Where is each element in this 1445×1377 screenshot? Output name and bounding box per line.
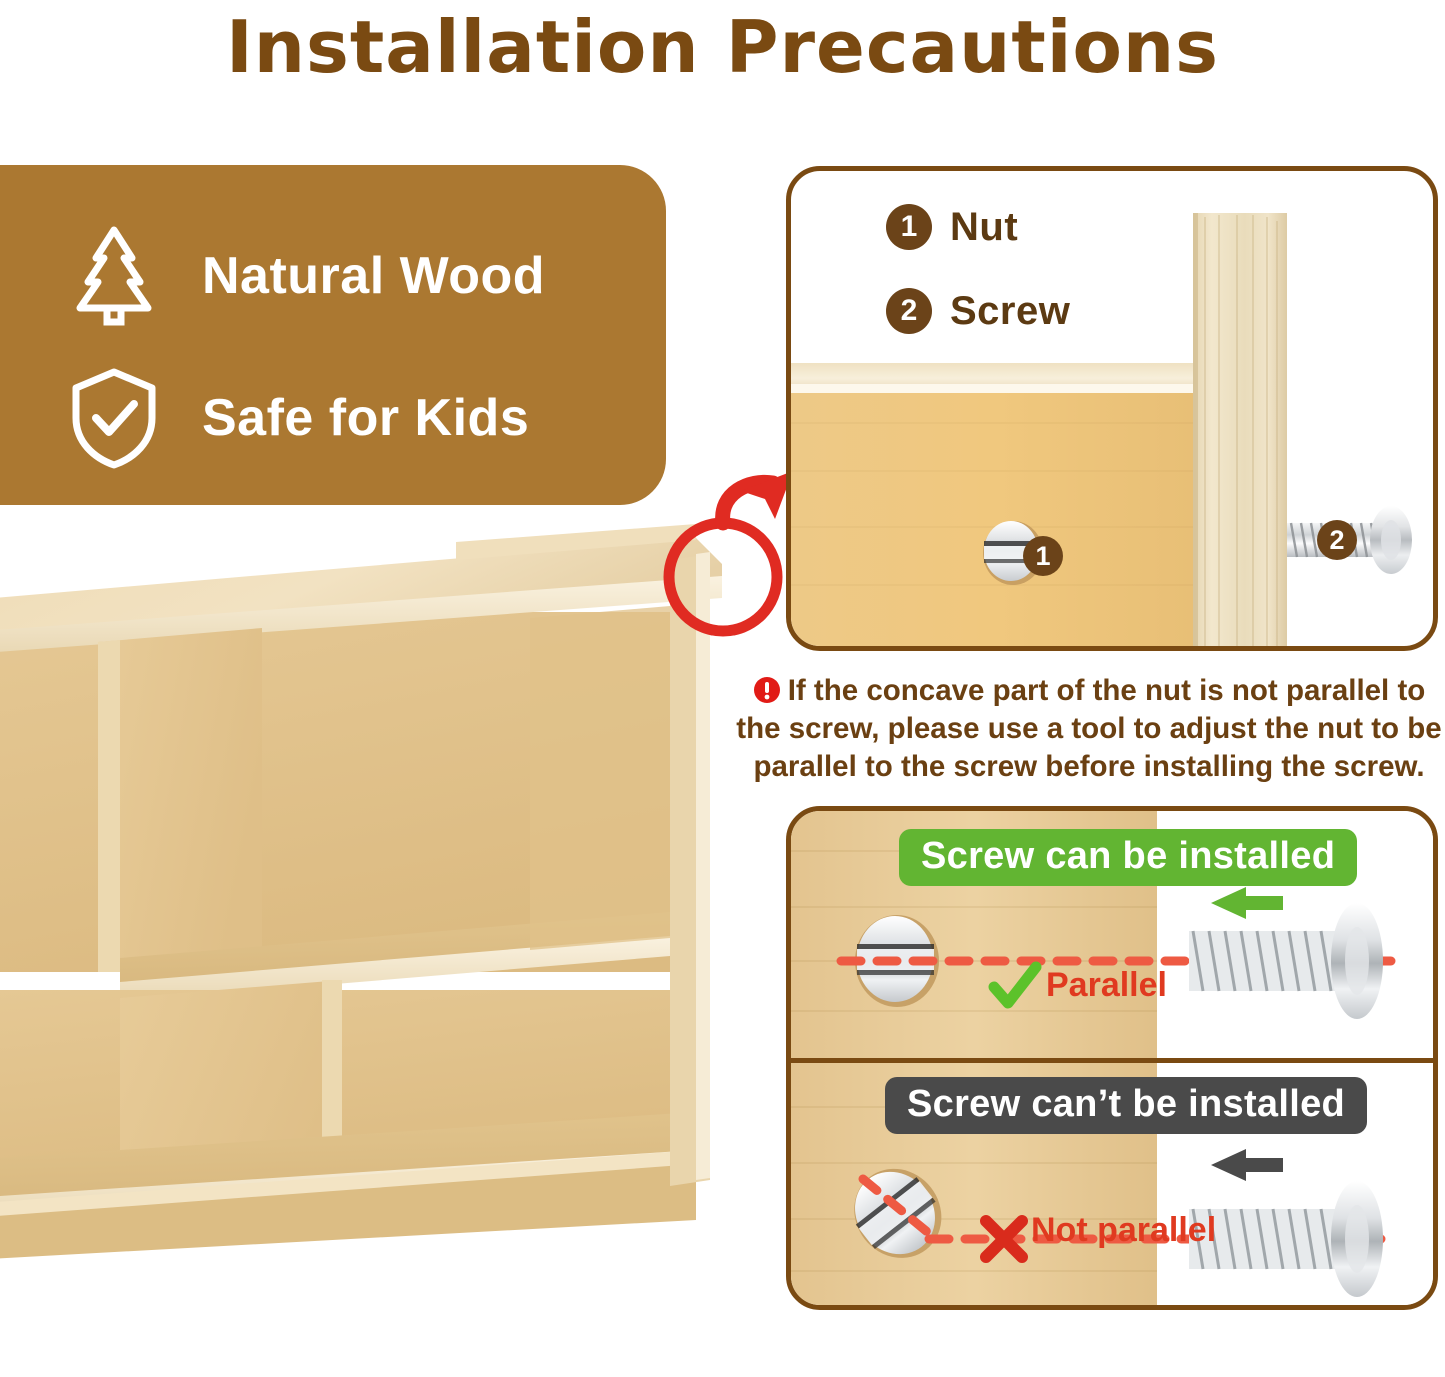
verdict-label-not-parallel: Not parallel xyxy=(1031,1211,1216,1250)
feature-item-natural-wood: Natural Wood xyxy=(66,211,666,341)
warning-text: If the concave part of the nut is not pa… xyxy=(736,674,1441,783)
feature-label: Natural Wood xyxy=(202,246,545,306)
legend-label: Nut xyxy=(950,205,1018,250)
status-badge-can-install: Screw can be installed xyxy=(899,829,1357,886)
page-title: Installation Precautions xyxy=(0,4,1445,90)
exclamation-circle-icon xyxy=(753,676,781,704)
panel-screw-can-be-installed: Screw can be installed Parallel xyxy=(791,811,1433,1058)
comparison-panels: Screw can be installed Parallel xyxy=(786,806,1438,1310)
svg-text:2: 2 xyxy=(1329,525,1344,555)
shield-check-icon xyxy=(66,366,162,470)
feature-label: Safe for Kids xyxy=(202,388,529,448)
verdict-label-parallel: Parallel xyxy=(1046,966,1167,1005)
pine-tree-icon xyxy=(66,224,162,328)
screw-graphic: 2 xyxy=(1287,506,1412,574)
legend-item-screw: 2 Screw xyxy=(886,281,1070,341)
feature-item-safe-for-kids: Safe for Kids xyxy=(66,353,666,483)
feature-panel: Natural Wood Safe for Kids xyxy=(0,165,666,505)
badge-number: 1 xyxy=(886,204,932,250)
product-photo xyxy=(0,520,730,1260)
status-badge-cannot-install: Screw can’t be installed xyxy=(885,1077,1367,1134)
legend-item-nut: 1 Nut xyxy=(886,197,1070,257)
legend-label: Screw xyxy=(950,289,1070,334)
badge-number: 2 xyxy=(886,288,932,334)
legend: 1 Nut 2 Screw xyxy=(886,197,1070,341)
detail-panel-nut-screw: 1 2 1 Nut 2 Screw xyxy=(786,166,1438,651)
warning-note: If the concave part of the nut is not pa… xyxy=(736,672,1442,786)
green-check-icon xyxy=(986,959,1042,1015)
panel-screw-cannot-be-installed: Screw can’t be installed Not parallel xyxy=(791,1058,1433,1305)
red-cross-icon xyxy=(976,1211,1032,1267)
svg-text:1: 1 xyxy=(1035,541,1050,571)
